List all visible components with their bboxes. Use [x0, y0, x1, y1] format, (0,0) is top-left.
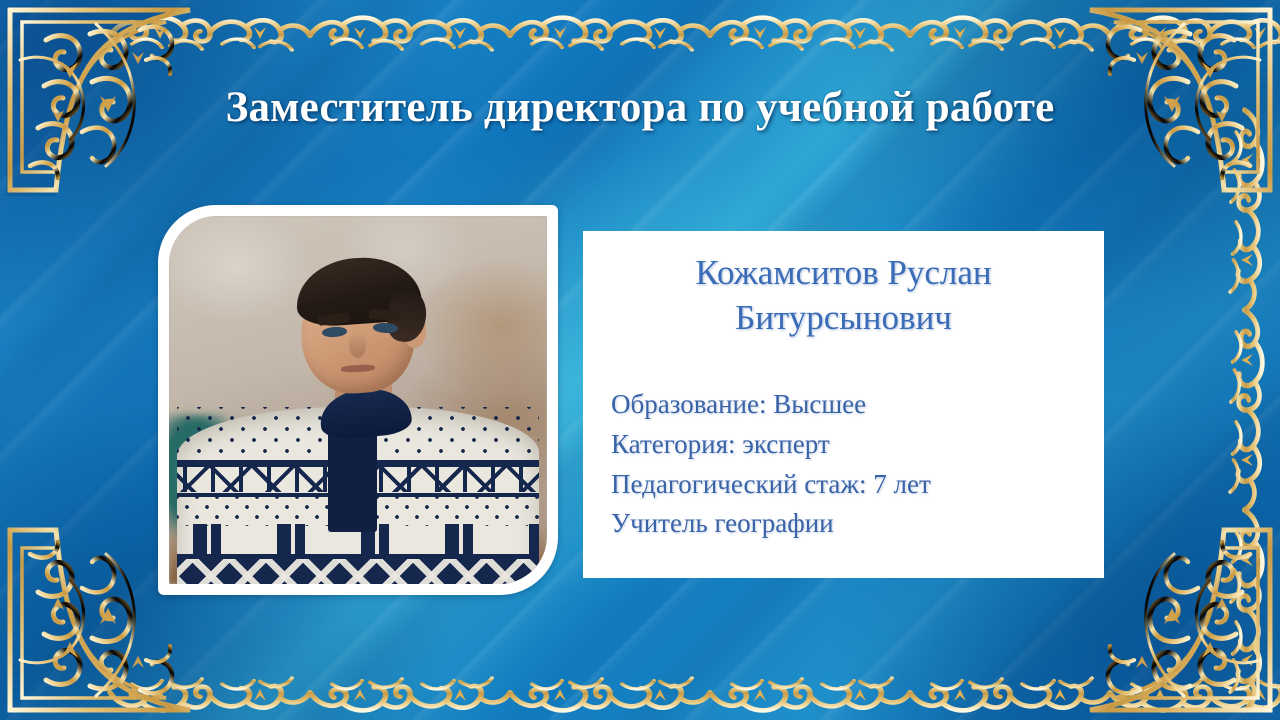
sweater-star-band-lower: [177, 559, 540, 584]
photo-nose: [349, 332, 366, 358]
presentation-slide: Заместитель директора по учебной работе: [0, 0, 1280, 720]
ornament-corner-bottom-right: [1080, 520, 1280, 720]
detail-category: Категория: эксперт: [611, 425, 1082, 465]
ornament-corner-top-right: [1080, 0, 1280, 200]
slide-title: Заместитель директора по учебной работе: [215, 80, 1065, 137]
person-name: Кожамситов Руслан Битурсынович: [605, 251, 1082, 341]
portrait-photo-card: [158, 205, 558, 595]
detail-education: Образование: Высшее: [611, 385, 1082, 425]
portrait-photo: [169, 216, 547, 584]
photo-eyebrow-right: [369, 309, 402, 321]
ornament-corner-top-left: [0, 0, 200, 200]
ornament-edge-top: [110, 2, 1170, 64]
person-details-list: Образование: Высшее Категория: эксперт П…: [605, 385, 1082, 545]
detail-experience: Педагогический стаж: 7 лет: [611, 465, 1082, 505]
info-panel: Кожамситов Руслан Битурсынович Образован…: [583, 231, 1104, 578]
detail-subject: Учитель географии: [611, 504, 1082, 544]
ornament-edge-left: [2, 110, 64, 610]
ornament-edge-bottom: [110, 656, 1170, 718]
ornament-edge-right: [1216, 110, 1278, 610]
